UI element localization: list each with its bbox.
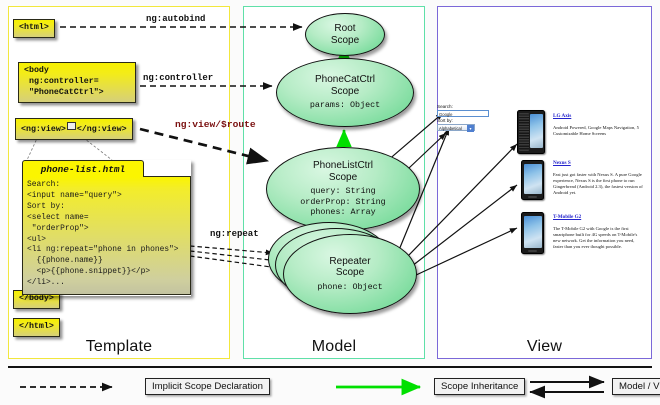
legend-item-scope-inheritance: Scope Inheritance xyxy=(434,378,525,395)
phone-title-nexus-s[interactable]: Nexus S xyxy=(553,160,571,166)
body-open-tag-box: <body ng:controller= "PhoneCatCtrl"> xyxy=(18,62,136,103)
diagram-canvas: Template Model View xyxy=(0,0,660,405)
phone-screen xyxy=(530,114,543,148)
ngview-tag-box: <ng:view></ng:view> xyxy=(15,118,133,140)
scope-phonecatctrl: PhoneCatCtrl Scope params: Object xyxy=(276,58,414,127)
scope-root: Root Scope xyxy=(305,13,385,56)
ngview-close-label: </ng:view> xyxy=(77,125,127,134)
phone-desc-nexus-s: Fast just got faster with Nexus S. A pur… xyxy=(553,172,645,196)
legend-item-data-binding: Model / View Data-binding xyxy=(612,378,660,395)
scope-repeater-name: Repeater Scope xyxy=(329,256,370,279)
phone-screen xyxy=(524,216,542,248)
phone-thumb-nexus-s xyxy=(521,160,544,200)
view-search-widget: Search: Google Sort by: Alphabetical▾ xyxy=(437,104,489,131)
legend: Implicit Scope Declaration Scope Inherit… xyxy=(0,366,660,405)
scope-repeater: Repeater Scope phone: Object xyxy=(283,234,417,314)
sort-select-value: Alphabetical xyxy=(439,126,462,131)
legend-arrow-layer xyxy=(0,366,660,405)
html-close-tag-box: </html> xyxy=(13,318,60,337)
edge-label-autobind: ng:autobind xyxy=(146,14,205,24)
scope-root-name: Root Scope xyxy=(331,23,359,46)
search-input[interactable]: Google xyxy=(437,110,489,117)
scope-phonelistctrl-name: PhoneListCtrl Scope xyxy=(313,160,373,183)
phone-thumb-tmobile-g2 xyxy=(521,212,544,254)
phone-desc-tmobile-g2: The T-Mobile G2 with Google is the first… xyxy=(553,226,645,250)
phone-title-tmobile-g2[interactable]: T-Mobile G2 xyxy=(553,214,581,220)
scope-phonecatctrl-name: PhoneCatCtrl Scope xyxy=(315,74,375,97)
ngview-open-label: <ng:view> xyxy=(21,125,66,134)
view-placeholder-icon xyxy=(67,122,76,130)
edge-label-controller: ng:controller xyxy=(143,73,213,83)
chevron-down-icon: ▾ xyxy=(467,125,474,132)
phone-home-button-icon xyxy=(528,196,537,198)
panel-model-label: Model xyxy=(244,338,424,356)
phone-thumb-lg-axis xyxy=(517,110,545,154)
scope-phonelistctrl: PhoneListCtrl Scope query: String orderP… xyxy=(266,147,420,231)
scope-repeater-props: phone: Object xyxy=(317,282,382,293)
edge-label-route: ng:view/$route xyxy=(175,119,256,130)
scope-phonecatctrl-props: params: Object xyxy=(310,100,380,111)
sort-select[interactable]: Alphabetical▾ xyxy=(437,124,475,131)
edge-label-repeat: ng:repeat xyxy=(210,229,259,239)
phone-title-lg-axis[interactable]: LG Axis xyxy=(553,113,571,119)
phone-keyboard-icon xyxy=(519,113,529,151)
phone-screen xyxy=(524,164,542,194)
phone-home-button-icon xyxy=(528,250,537,252)
note-code: Search: <input name="query"> Sort by: <s… xyxy=(22,176,191,295)
html-open-tag-box: <html> xyxy=(13,19,55,38)
scope-phonelistctrl-props: query: String orderProp: String phones: … xyxy=(300,186,385,218)
template-note-phone-list: phone-list.html Search: <input name="que… xyxy=(22,160,191,296)
panel-view-label: View xyxy=(438,338,651,356)
panel-template-label: Template xyxy=(9,338,229,356)
phone-desc-lg-axis: Android Powered, Google Maps Navigation,… xyxy=(553,125,645,137)
legend-item-implicit-scope-declaration: Implicit Scope Declaration xyxy=(145,378,270,395)
note-title: phone-list.html xyxy=(22,160,144,177)
